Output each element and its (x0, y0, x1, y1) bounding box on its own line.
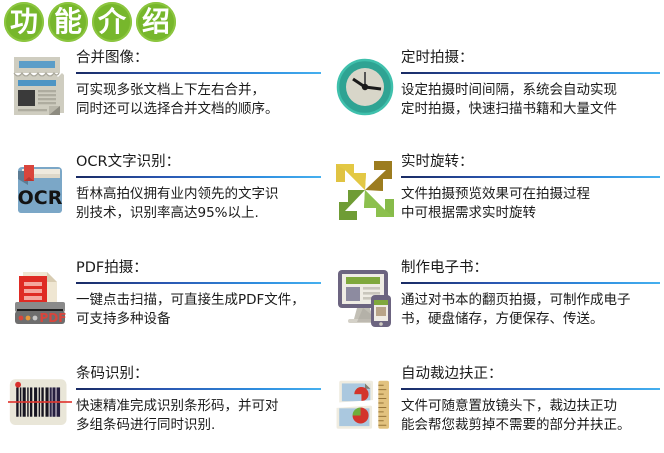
feature-divider (401, 388, 660, 390)
feature-pdf-capture: PDF PDF拍摄： 一键点击扫描，可直接生成PDF文件， 可支持多种设备 (0, 254, 325, 360)
feature-divider (401, 282, 660, 284)
feature-body: 自动裁边扶正： 文件可随意置放镜头下，裁边扶正功 能会帮您裁剪掉不需要的部分并扶… (397, 364, 664, 435)
feature-title: 实时旋转： (401, 152, 660, 172)
feature-body: PDF拍摄： 一键点击扫描，可直接生成PDF文件， 可支持多种设备 (72, 258, 325, 329)
barcode-scan-icon (0, 364, 72, 442)
feature-description: 快速精准完成识别条形码，并可对 多组条码进行同时识别. (76, 397, 321, 435)
feature-title: 条码识别： (76, 364, 321, 384)
feature-title: 自动裁边扶正： (401, 364, 660, 384)
feature-title: 合并图像： (76, 48, 321, 68)
feature-description: 可实现多张文档上下左右合并， 同时还可以选择合并文档的顺序。 (76, 81, 321, 119)
feature-body: 合并图像： 可实现多张文档上下左右合并， 同时还可以选择合并文档的顺序。 (72, 48, 325, 119)
feature-auto-crop: 自动裁边扶正： 文件可随意置放镜头下，裁边扶正功 能会帮您裁剪掉不需要的部分并扶… (325, 360, 664, 453)
feature-title: OCR文字识别： (76, 152, 321, 172)
feature-description: 一键点击扫描，可直接生成PDF文件， 可支持多种设备 (76, 291, 321, 329)
feature-description: 设定拍摄时间间隔，系统会自动实现 定时拍摄，快速扫描书籍和大量文件 (401, 81, 660, 119)
feature-barcode: 条码识别： 快速精准完成识别条形码，并可对 多组条码进行同时识别. (0, 360, 325, 453)
feature-body: 条码识别： 快速精准完成识别条形码，并可对 多组条码进行同时识别. (72, 364, 325, 435)
merged-documents-icon (0, 48, 72, 126)
feature-merge-images: 合并图像： 可实现多张文档上下左右合并， 同时还可以选择合并文档的顺序。 (0, 44, 325, 148)
svg-text:PDF: PDF (40, 311, 67, 325)
feature-realtime-rotate: 实时旋转： 文件拍摄预览效果可在拍摄过程 中可根据需求实时旋转 (325, 148, 664, 254)
title-char-2: 能 (48, 2, 88, 42)
feature-title: 定时拍摄： (401, 48, 660, 68)
feature-ocr: OCR OCR文字识别： 哲林高拍仪拥有业内领先的文字识 别技术，识别率高达95… (0, 148, 325, 254)
clock-icon (325, 48, 397, 126)
ocr-book-icon: OCR (0, 152, 72, 230)
feature-divider (76, 176, 321, 178)
feature-make-ebook: 制作电子书： 通过对书本的翻页拍摄，可制作成电子 书，硬盘储存，方便保存、传送。 (325, 254, 664, 360)
feature-divider (76, 72, 321, 74)
feature-divider (401, 176, 660, 178)
feature-description: 文件拍摄预览效果可在拍摄过程 中可根据需求实时旋转 (401, 185, 660, 223)
feature-divider (401, 72, 660, 74)
feature-description: 通过对书本的翻页拍摄，可制作成电子 书，硬盘储存，方便保存、传送。 (401, 291, 660, 329)
title-char-4: 绍 (136, 2, 176, 42)
feature-timed-capture: 定时拍摄： 设定拍摄时间间隔，系统会自动实现 定时拍摄，快速扫描书籍和大量文件 (325, 44, 664, 148)
feature-description: 文件可随意置放镜头下，裁边扶正功 能会帮您裁剪掉不需要的部分并扶正。 (401, 397, 660, 435)
monitor-phone-icon (325, 258, 397, 336)
feature-title: PDF拍摄： (76, 258, 321, 278)
feature-body: 定时拍摄： 设定拍摄时间间隔，系统会自动实现 定时拍摄，快速扫描书籍和大量文件 (397, 48, 664, 119)
pdf-printer-icon: PDF (0, 258, 72, 336)
page-title: 功 能 介 绍 (4, 2, 176, 42)
feature-body: 实时旋转： 文件拍摄预览效果可在拍摄过程 中可根据需求实时旋转 (397, 152, 664, 223)
title-char-3: 介 (92, 2, 132, 42)
svg-text:OCR: OCR (18, 187, 63, 209)
feature-divider (76, 282, 321, 284)
feature-body: OCR文字识别： 哲林高拍仪拥有业内领先的文字识 别技术，识别率高达95%以上. (72, 152, 325, 223)
crop-ruler-icon (325, 364, 397, 442)
feature-body: 制作电子书： 通过对书本的翻页拍摄，可制作成电子 书，硬盘储存，方便保存、传送。 (397, 258, 664, 329)
feature-divider (76, 388, 321, 390)
feature-title: 制作电子书： (401, 258, 660, 278)
feature-description: 哲林高拍仪拥有业内领先的文字识 别技术，识别率高达95%以上. (76, 185, 321, 223)
title-char-1: 功 (4, 2, 44, 42)
rotate-arrows-icon (325, 152, 397, 230)
features-grid: 合并图像： 可实现多张文档上下左右合并， 同时还可以选择合并文档的顺序。 定时拍… (0, 44, 664, 453)
